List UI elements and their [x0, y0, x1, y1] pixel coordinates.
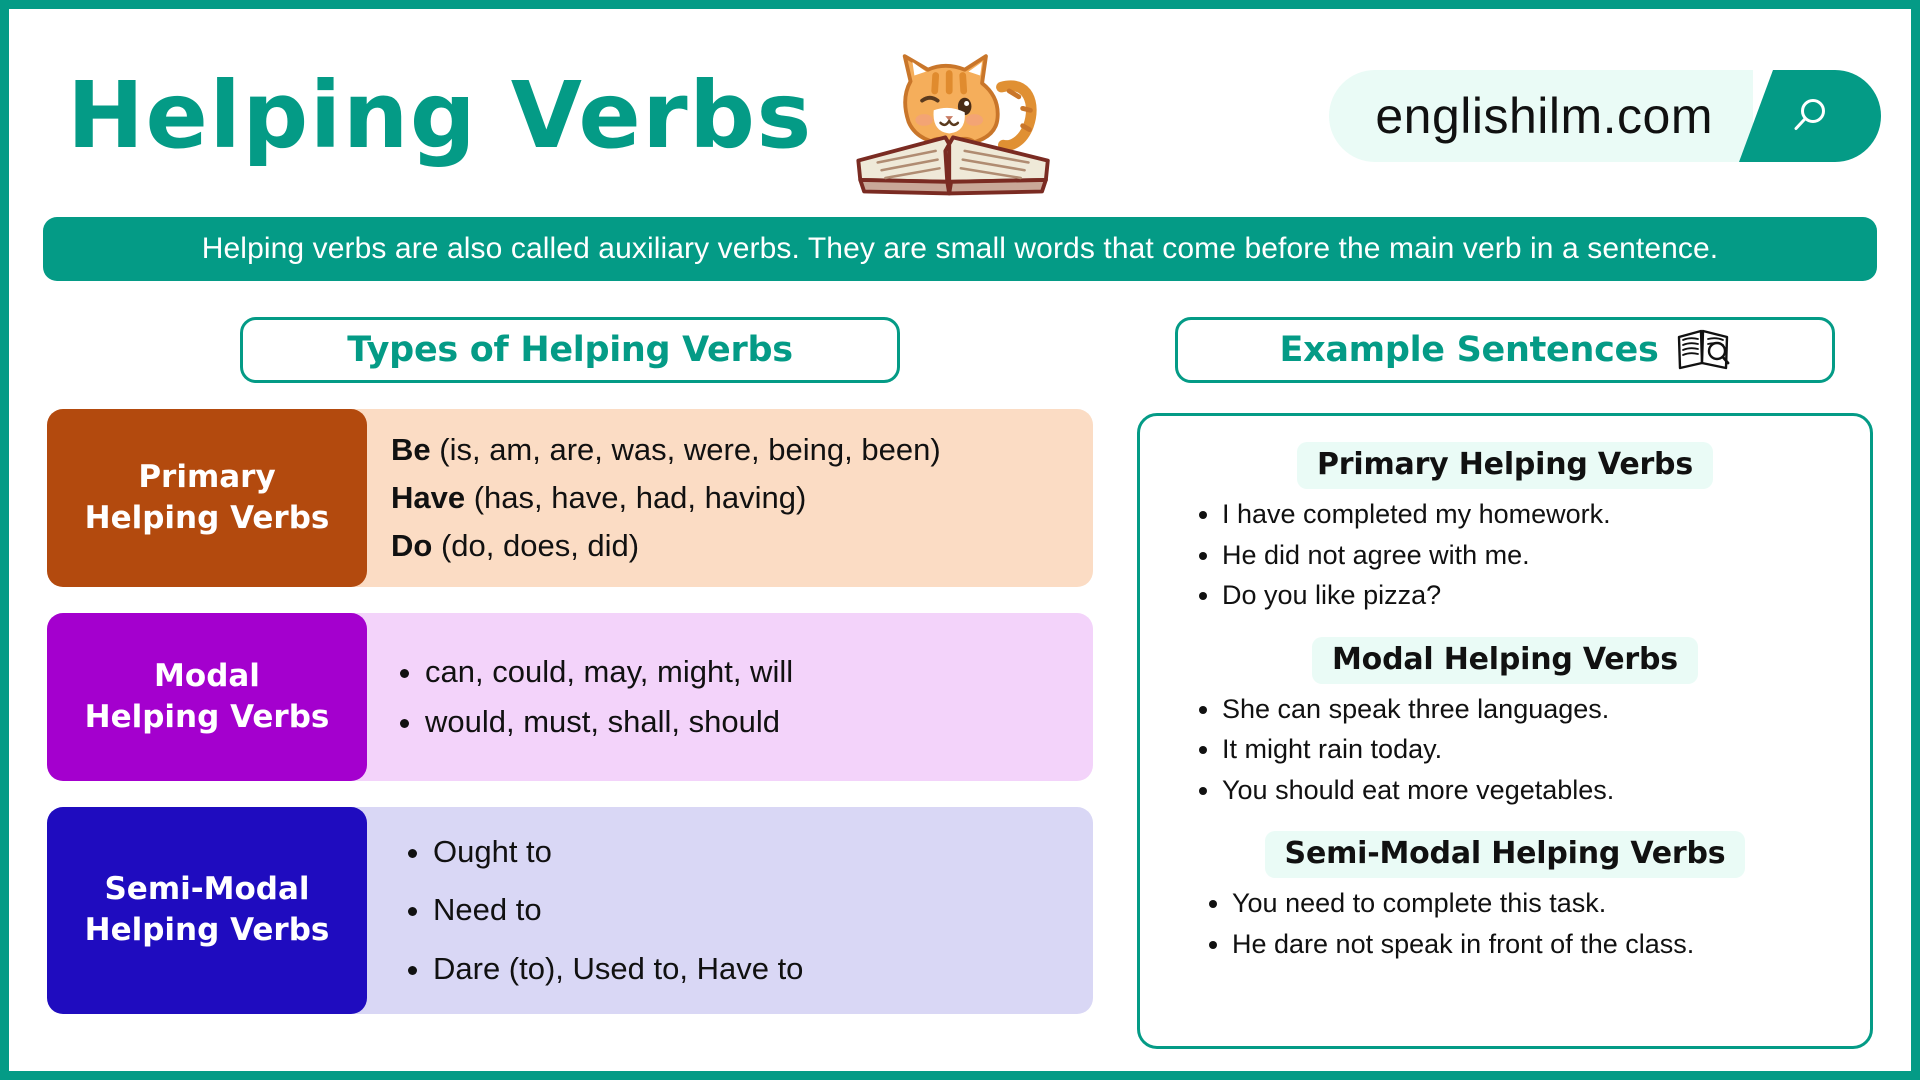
type-tag-modal: Modal Helping Verbs [47, 613, 367, 781]
examples-heading: Example Sentences [1175, 317, 1835, 383]
type-tag-primary-line2: Helping Verbs [85, 498, 330, 539]
poster-inner: Helping Verbs [9, 9, 1911, 1071]
primary-line-have: Have (has, have, had, having) [391, 474, 1071, 522]
types-heading: Types of Helping Verbs [240, 317, 900, 383]
list-item: Do you like pizza? [1222, 578, 1850, 613]
type-tag-modal-line1: Modal [154, 656, 260, 697]
example-group-primary-heading: Primary Helping Verbs [1160, 442, 1850, 489]
brand-name: englishilm.com [1375, 87, 1713, 145]
examples-heading-label: Example Sentences [1279, 330, 1658, 370]
example-group-semimodal: Semi-Modal Helping Verbs You need to com… [1160, 831, 1850, 961]
list-item: I have completed my homework. [1222, 497, 1850, 532]
types-heading-label: Types of Helping Verbs [347, 330, 793, 370]
list-item: would, must, shall, should [425, 697, 1071, 747]
list-item: You need to complete this task. [1232, 886, 1850, 921]
brand-pill: englishilm.com [1329, 70, 1753, 162]
type-tag-semimodal-line1: Semi-Modal [104, 869, 309, 910]
primary-bold-have: Have [391, 480, 465, 515]
list-item: She can speak three languages. [1222, 692, 1850, 727]
subtitle-text: Helping verbs are also called auxiliary … [202, 232, 1719, 266]
example-group-modal-label: Modal Helping Verbs [1312, 637, 1698, 684]
type-row-modal: Modal Helping Verbs can, could, may, mig… [47, 613, 1093, 781]
semimodal-list: Ought to Need to Dare (to), Used to, Hav… [391, 823, 1071, 998]
primary-bold-be: Be [391, 432, 431, 467]
example-group-primary: Primary Helping Verbs I have completed m… [1160, 442, 1850, 613]
search-button[interactable] [1739, 70, 1881, 162]
header: Helping Verbs [37, 23, 1883, 209]
examples-card: Primary Helping Verbs I have completed m… [1137, 413, 1873, 1049]
list-item: He did not agree with me. [1222, 538, 1850, 573]
poster-frame: Helping Verbs [0, 0, 1920, 1080]
type-tag-semimodal-line2: Helping Verbs [85, 910, 330, 951]
type-body-primary: Be (is, am, are, was, were, being, been)… [349, 409, 1093, 587]
primary-line-be: Be (is, am, are, was, were, being, been) [391, 426, 1071, 474]
search-icon [1788, 94, 1832, 138]
example-list-modal: She can speak three languages. It might … [1160, 692, 1850, 808]
list-item: can, could, may, might, will [425, 647, 1071, 697]
primary-line-do: Do (do, does, did) [391, 522, 1071, 570]
primary-rest-be: (is, am, are, was, were, being, been) [431, 432, 941, 467]
type-row-semimodal: Semi-Modal Helping Verbs Ought to Need t… [47, 807, 1093, 1014]
example-list-primary: I have completed my homework. He did not… [1160, 497, 1850, 613]
subtitle-banner: Helping verbs are also called auxiliary … [43, 217, 1877, 281]
page-title: Helping Verbs [67, 70, 813, 162]
primary-rest-do: (do, does, did) [432, 528, 639, 563]
type-tag-semimodal: Semi-Modal Helping Verbs [47, 807, 367, 1014]
examples-column: Example Sentences Primary Helping Verbs [1137, 317, 1873, 1049]
type-row-primary: Primary Helping Verbs Be (is, am, are, w… [47, 409, 1093, 587]
type-body-modal: can, could, may, might, will would, must… [349, 613, 1093, 781]
primary-rest-have: (has, have, had, having) [465, 480, 806, 515]
primary-bold-do: Do [391, 528, 432, 563]
example-group-modal: Modal Helping Verbs She can speak three … [1160, 637, 1850, 808]
content-columns: Types of Helping Verbs Primary Helping V… [37, 317, 1883, 1049]
list-item: Ought to [433, 823, 1071, 881]
type-tag-modal-line2: Helping Verbs [85, 697, 330, 738]
example-group-semimodal-heading: Semi-Modal Helping Verbs [1160, 831, 1850, 878]
list-item: You should eat more vegetables. [1222, 773, 1850, 808]
type-body-semimodal: Ought to Need to Dare (to), Used to, Hav… [349, 807, 1093, 1014]
types-column: Types of Helping Verbs Primary Helping V… [47, 317, 1093, 1014]
book-magnifier-icon [1675, 327, 1731, 373]
modal-list: can, could, may, might, will would, must… [391, 647, 1071, 747]
cat-reading-book-icon [839, 36, 1071, 202]
example-group-primary-label: Primary Helping Verbs [1297, 442, 1713, 489]
example-list-semimodal: You need to complete this task. He dare … [1160, 886, 1850, 961]
list-item: It might rain today. [1222, 732, 1850, 767]
list-item: Dare (to), Used to, Have to [433, 940, 1071, 998]
type-tag-primary-line1: Primary [138, 457, 275, 498]
example-group-modal-heading: Modal Helping Verbs [1160, 637, 1850, 684]
example-group-semimodal-label: Semi-Modal Helping Verbs [1265, 831, 1746, 878]
list-item: He dare not speak in front of the class. [1232, 927, 1850, 962]
brand-search-group: englishilm.com [1329, 70, 1881, 162]
type-tag-primary: Primary Helping Verbs [47, 409, 367, 587]
list-item: Need to [433, 881, 1071, 939]
